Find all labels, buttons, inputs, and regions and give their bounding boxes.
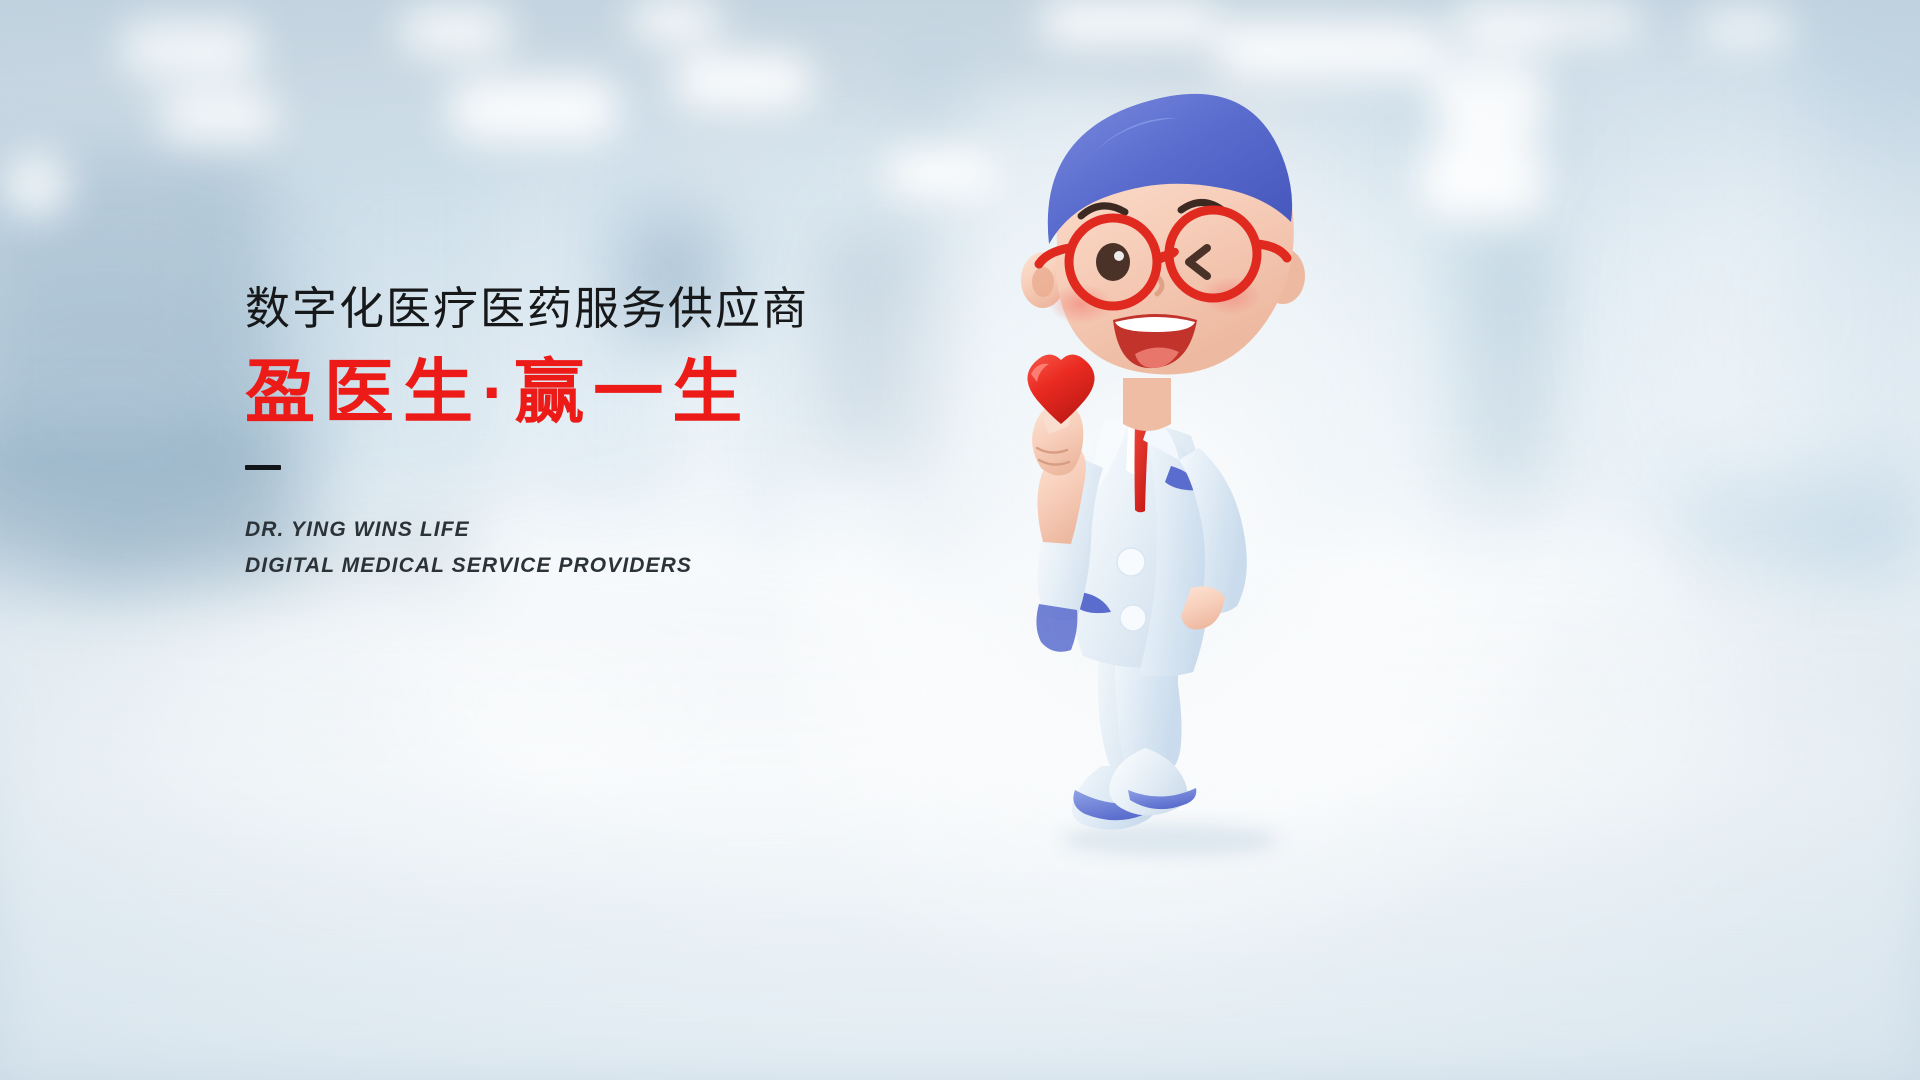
floating-heart-icon <box>1027 354 1094 424</box>
banner-stage: 数字化医疗医药服务供应商 盈医生·赢一生 DR. YING WINS LIFE … <box>0 0 1920 1080</box>
subtitle-english: DR. YING WINS LIFE DIGITAL MEDICAL SERVI… <box>245 512 965 584</box>
mascot-ground-shadow <box>1060 824 1280 856</box>
subtitle-line-2: DIGITAL MEDICAL SERVICE PROVIDERS <box>245 548 965 584</box>
mascot-head <box>1039 94 1294 375</box>
subtitle-line-1: DR. YING WINS LIFE <box>245 512 965 548</box>
eye-open <box>1096 243 1130 281</box>
slogan-headline: 盈医生·赢一生 <box>245 357 965 427</box>
doctor-mascot-illustration <box>985 48 1365 848</box>
mascot-neck <box>1123 378 1171 431</box>
banner-copy-block: 数字化医疗医药服务供应商 盈医生·赢一生 DR. YING WINS LIFE … <box>245 286 965 584</box>
page-title: 数字化医疗医药服务供应商 <box>245 286 965 331</box>
divider-rule <box>245 465 281 470</box>
mascot-shoes <box>1072 748 1196 830</box>
